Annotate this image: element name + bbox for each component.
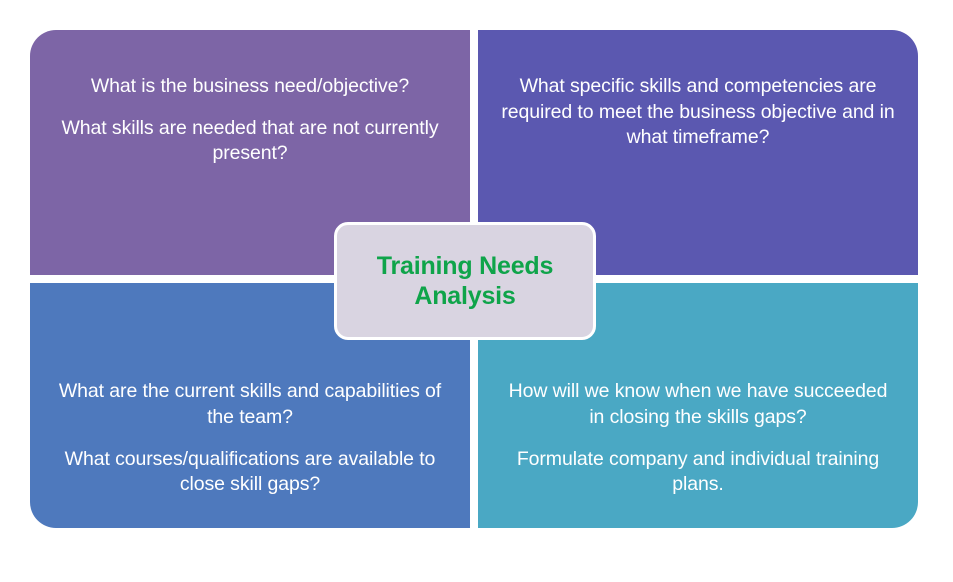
center-badge-label: Training Needs Analysis xyxy=(377,251,553,312)
quadrant-bottom-right-paragraph-1: How will we know when we have succeeded … xyxy=(500,379,896,430)
quadrant-top-left-paragraph-1: What is the business need/objective? xyxy=(52,74,448,100)
quadrant-top-left-paragraph-2: What skills are needed that are not curr… xyxy=(52,116,448,167)
training-needs-analysis-diagram: What is the business need/objective? Wha… xyxy=(0,0,953,582)
center-badge: Training Needs Analysis xyxy=(334,222,596,340)
quadrant-top-right-paragraph-1: What specific skills and competencies ar… xyxy=(500,74,896,151)
quadrant-bottom-left-paragraph-1: What are the current skills and capabili… xyxy=(52,379,448,430)
quadrant-bottom-left-paragraph-2: What courses/qualifications are availabl… xyxy=(52,447,448,498)
quadrant-bottom-right-paragraph-2: Formulate company and individual trainin… xyxy=(500,447,896,498)
